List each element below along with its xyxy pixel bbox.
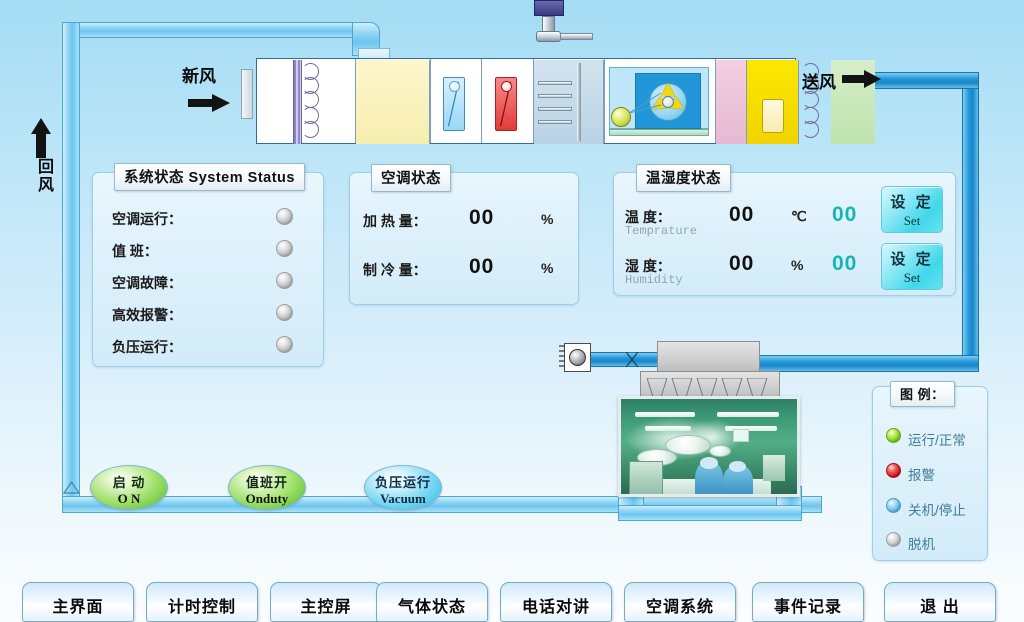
start-label-cn: 启 动 bbox=[91, 472, 167, 491]
ahu-intake-damper bbox=[241, 69, 253, 119]
status-row-label: 负压运行： bbox=[112, 337, 182, 357]
valve-actuator bbox=[534, 0, 564, 16]
legend-lamp-offline bbox=[886, 532, 901, 547]
ahu-cooling-indicator bbox=[443, 77, 465, 131]
humidity-value: 00 bbox=[729, 252, 754, 276]
humidity-unit: % bbox=[791, 257, 803, 273]
tab-label: 主控屏 bbox=[271, 593, 381, 617]
tab-label: 退 出 bbox=[885, 593, 995, 617]
tab-event-log[interactable]: 事件记录 bbox=[752, 582, 864, 622]
supply-air-label: 送风 bbox=[802, 68, 836, 93]
ahu-humidifier-riser-pipe bbox=[577, 63, 581, 141]
ahu-humidifier-bars bbox=[538, 81, 574, 129]
status-row-lamp bbox=[276, 208, 293, 225]
temp-setpoint-value: 00 bbox=[832, 203, 857, 227]
legend-lamp-stopped bbox=[886, 498, 901, 513]
hvac-row-value: 00 bbox=[469, 206, 494, 230]
ahu-access-door bbox=[762, 99, 784, 133]
fresh-air-label: 新风 bbox=[182, 62, 216, 87]
humidity-set-label-en: Set bbox=[882, 270, 942, 286]
onduty-button[interactable]: 值班开 Onduty bbox=[228, 465, 306, 510]
status-row-label: 空调故障： bbox=[112, 273, 182, 293]
tab-timer-control[interactable]: 计时控制 bbox=[146, 582, 258, 622]
vacuum-label-cn: 负压运行 bbox=[365, 472, 441, 491]
vacuum-label-en: Vacuum bbox=[365, 491, 441, 507]
onduty-label-en: Onduty bbox=[229, 491, 305, 507]
ahu-heating-indicator bbox=[495, 77, 517, 131]
legend-label-offline: 脱机 bbox=[908, 533, 935, 553]
tab-label: 主界面 bbox=[23, 593, 133, 617]
legend-label-alarm: 报警 bbox=[908, 464, 935, 484]
tab-label: 计时控制 bbox=[147, 593, 257, 617]
status-row-label: 空调运行： bbox=[112, 209, 182, 229]
ahu-divider-5 bbox=[604, 59, 605, 143]
system-status-title: 系统状态 System Status bbox=[114, 163, 305, 191]
ahu-divider-2 bbox=[430, 59, 431, 143]
onduty-label-cn: 值班开 bbox=[229, 472, 305, 491]
legend-lamp-alarm bbox=[886, 463, 901, 478]
temp-humidity-title: 温湿度状态 bbox=[636, 164, 731, 192]
ahu-pink-section bbox=[716, 60, 747, 144]
duct-or-bottom bbox=[618, 505, 802, 521]
valve-outlet-pipe bbox=[560, 33, 593, 40]
return-damper-icon bbox=[624, 350, 640, 369]
valve-body bbox=[536, 31, 561, 42]
temp-unit: ℃ bbox=[791, 208, 807, 225]
ahu-prefilter-fins bbox=[293, 60, 302, 144]
temp-label-en: Temprature bbox=[625, 224, 697, 238]
tab-main-panel[interactable]: 主控屏 bbox=[270, 582, 382, 622]
humidity-setpoint-value: 00 bbox=[832, 252, 857, 276]
temp-set-label-en: Set bbox=[882, 213, 942, 229]
operating-room-photo bbox=[618, 396, 800, 497]
legend-label-running: 运行/正常 bbox=[908, 429, 966, 449]
status-row-lamp bbox=[276, 272, 293, 289]
hvac-status-title: 空调状态 bbox=[371, 164, 451, 192]
hvac-row-label: 制 冷 量： bbox=[363, 260, 427, 280]
laminar-diffuser-plenum bbox=[657, 341, 760, 373]
tab-intercom[interactable]: 电话对讲 bbox=[500, 582, 612, 622]
temp-value: 00 bbox=[729, 203, 754, 227]
exhaust-fan-icon bbox=[558, 341, 592, 375]
ahu-prefilter-coils bbox=[302, 63, 332, 143]
duct-supply-riser bbox=[962, 72, 979, 372]
ahu-divider-3 bbox=[481, 59, 482, 143]
bottom-tab-bar: 主界面 计时控制 主控屏 气体状态 电话对讲 空调系统 事件记录 退 出 bbox=[0, 578, 1024, 622]
tab-main-screen[interactable]: 主界面 bbox=[22, 582, 134, 622]
vacuum-button[interactable]: 负压运行 Vacuum bbox=[364, 465, 442, 510]
status-row-lamp bbox=[276, 336, 293, 353]
hvac-control-screen: 新风 回风 送风 系统状态 System Status 空调运行： 值 班： 空… bbox=[0, 0, 1024, 622]
return-air-arrow-icon bbox=[30, 118, 52, 158]
duct-top-horizontal bbox=[62, 22, 362, 38]
ahu-supply-fan bbox=[609, 65, 713, 139]
humidity-set-button[interactable]: 设 定 Set bbox=[881, 243, 943, 290]
status-row-lamp bbox=[276, 304, 293, 321]
start-on-button[interactable]: 启 动 O N bbox=[90, 465, 168, 510]
return-air-label: 回风 bbox=[31, 158, 55, 194]
temp-set-label-cn: 设 定 bbox=[882, 191, 942, 212]
start-label-en: O N bbox=[91, 491, 167, 507]
legend-label-stopped: 关机/停止 bbox=[908, 499, 966, 519]
legend-title: 图 例： bbox=[890, 381, 955, 407]
tab-label: 空调系统 bbox=[625, 593, 735, 617]
hvac-row-unit: % bbox=[541, 211, 553, 227]
status-row-label: 值 班： bbox=[112, 241, 158, 261]
humidifier-valve-assembly bbox=[524, 0, 596, 60]
tab-label: 气体状态 bbox=[377, 593, 487, 617]
tab-exit[interactable]: 退 出 bbox=[884, 582, 996, 622]
legend-lamp-running bbox=[886, 428, 901, 443]
hvac-row-unit: % bbox=[541, 260, 553, 276]
ahu-yellow-filter bbox=[356, 60, 430, 144]
hvac-row-value: 00 bbox=[469, 255, 494, 279]
status-row-label: 高效报警： bbox=[112, 305, 182, 325]
tab-gas-status[interactable]: 气体状态 bbox=[376, 582, 488, 622]
hvac-row-label: 加 热 量： bbox=[363, 211, 427, 231]
supply-air-arrow-icon bbox=[842, 70, 882, 90]
status-row-lamp bbox=[276, 240, 293, 257]
tab-hvac-system[interactable]: 空调系统 bbox=[624, 582, 736, 622]
ahu-unit bbox=[256, 58, 796, 144]
tab-label: 事件记录 bbox=[753, 593, 863, 617]
fresh-air-arrow-icon bbox=[188, 93, 232, 115]
humidity-label-en: Humidity bbox=[625, 273, 683, 287]
duct-left-riser bbox=[62, 22, 80, 512]
laminar-diffuser-body bbox=[640, 371, 780, 399]
humidity-set-label-cn: 设 定 bbox=[882, 248, 942, 269]
tab-label: 电话对讲 bbox=[501, 593, 611, 617]
temp-set-button[interactable]: 设 定 Set bbox=[881, 186, 943, 233]
duct-damper-icon bbox=[62, 478, 81, 496]
